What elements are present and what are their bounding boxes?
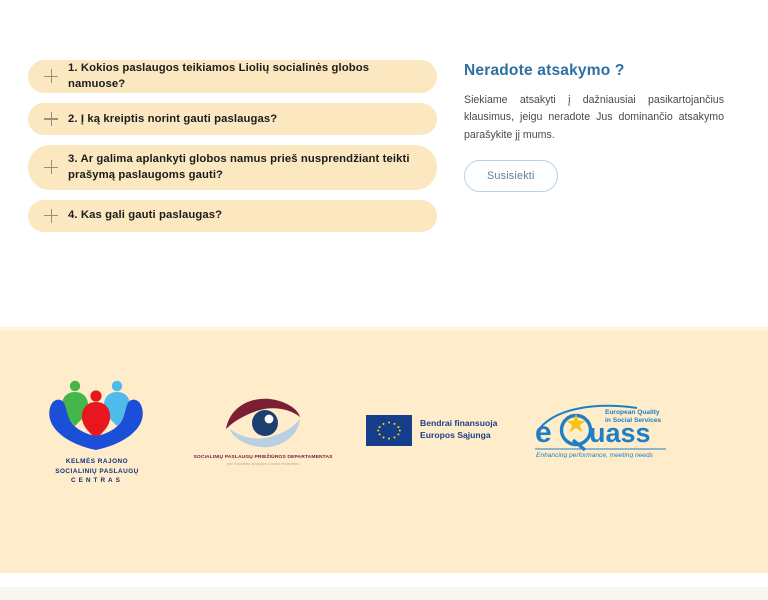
equass-tagline-line2: in Social Services xyxy=(605,417,661,424)
no-answer-title: Neradote atsakymo ? xyxy=(464,62,724,80)
bottom-white-strip xyxy=(0,573,768,587)
logo-equass[interactable]: e uass European Quality in Social Servic… xyxy=(533,402,668,458)
eye-icon xyxy=(220,395,306,451)
plus-icon[interactable] xyxy=(38,154,64,180)
no-answer-description: Siekiame atsakyti į dažniausiai pasikart… xyxy=(464,92,724,144)
departamentas-subcaption: prie Socialinės apsaugos ir darbo minist… xyxy=(188,462,338,466)
faq-accordion-item-2[interactable]: 2. Į ką kreiptis norint gauti paslaugas? xyxy=(28,103,437,135)
faq-question-label: 4. Kas gali gauti paslaugas? xyxy=(68,207,222,223)
eu-caption-line1: Bendrai finansuoja xyxy=(420,418,497,430)
footer: KELMĖS RAJONO SOCIALINIŲ PASLAUGŲ CENTRA… xyxy=(0,327,768,573)
footer-logo-row: KELMĖS RAJONO SOCIALINIŲ PASLAUGŲ CENTRA… xyxy=(0,365,768,495)
departamentas-caption: SOCIALINIŲ PASLAUGŲ PRIEŽIŪROS DEPARTAME… xyxy=(188,455,338,460)
faq-question-label: 1. Kokios paslaugos teikiamos Liolių soc… xyxy=(68,60,421,93)
eu-caption-line2: Europos Sąjunga xyxy=(420,430,497,442)
logo-kelmes-centras[interactable]: KELMĖS RAJONO SOCIALINIŲ PASLAUGŲ CENTRA… xyxy=(22,374,172,487)
plus-icon[interactable] xyxy=(38,203,64,229)
kelme-logo-line3: CENTRAS xyxy=(22,476,172,486)
no-answer-panel: Neradote atsakymo ? Siekiame atsakyti į … xyxy=(464,62,724,192)
contact-button[interactable]: Susisiekti xyxy=(464,160,558,192)
plus-icon[interactable] xyxy=(38,106,64,132)
faq-question-label: 3. Ar galima aplankyti globos namus prie… xyxy=(68,151,421,184)
main-content: 1. Kokios paslaugos teikiamos Liolių soc… xyxy=(0,0,768,327)
logo-eu-funding[interactable]: Bendrai finansuoja Europos Sąjunga xyxy=(366,415,497,446)
kelme-logo-line2: SOCIALINIŲ PASLAUGŲ xyxy=(22,467,172,477)
bottom-offwhite-strip xyxy=(0,587,768,600)
faq-accordion-item-1[interactable]: 1. Kokios paslaugos teikiamos Liolių soc… xyxy=(28,60,437,93)
faq-accordion-list: 1. Kokios paslaugos teikiamos Liolių soc… xyxy=(28,60,437,242)
svg-text:e: e xyxy=(535,416,552,449)
kelme-hands-figures-icon xyxy=(45,374,149,454)
faq-accordion-item-3[interactable]: 3. Ar galima aplankyti globos namus prie… xyxy=(28,145,437,190)
logo-prieziuros-departamentas[interactable]: SOCIALINIŲ PASLAUGŲ PRIEŽIŪROS DEPARTAME… xyxy=(188,395,338,466)
kelme-logo-line1: KELMĖS RAJONO xyxy=(22,457,172,467)
equass-slogan: Enhancing performance, meeting needs xyxy=(536,452,654,458)
equass-tagline-line1: European Quality xyxy=(605,409,660,416)
equass-icon: e uass European Quality in Social Servic… xyxy=(533,402,668,458)
kelme-logo-text: KELMĖS RAJONO SOCIALINIŲ PASLAUGŲ CENTRA… xyxy=(22,457,172,487)
eu-flag-icon xyxy=(366,415,412,446)
faq-question-label: 2. Į ką kreiptis norint gauti paslaugas? xyxy=(68,111,277,127)
faq-accordion-item-4[interactable]: 4. Kas gali gauti paslaugas? xyxy=(28,200,437,232)
eu-caption: Bendrai finansuoja Europos Sąjunga xyxy=(420,418,497,441)
plus-icon[interactable] xyxy=(38,63,64,89)
footer-top-divider xyxy=(0,327,768,331)
